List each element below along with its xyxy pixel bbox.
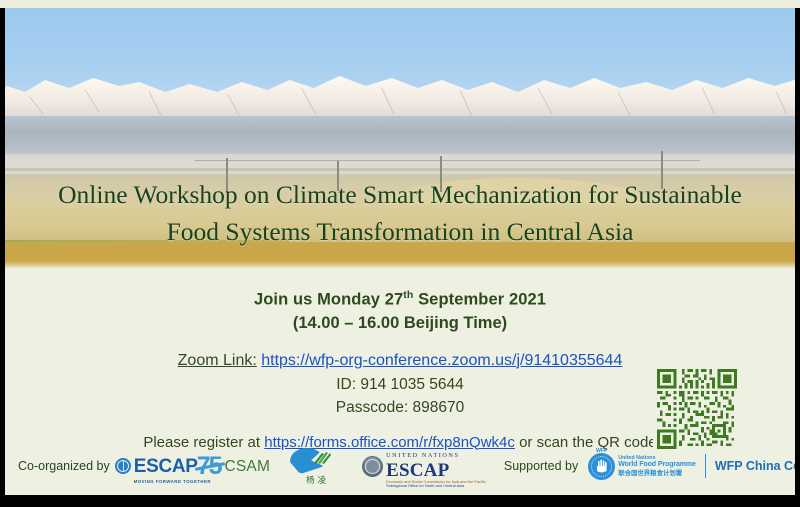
wfp-centre-of-excellence: WFP China Centre of Excellence [715, 459, 795, 473]
wfp-logo: WFP United Nations World Food Programme [588, 453, 795, 480]
wfp-wordmark: United Nations World Food Programme 联合国世… [618, 455, 696, 477]
wfp-seal-icon: WFP [588, 453, 615, 480]
escap-office-line: Subregional Office for North and Central… [386, 484, 486, 488]
title-line-1: Online Workshop on Climate Smart Mechani… [5, 176, 795, 213]
poster-page: Online Workshop on Climate Smart Mechani… [5, 8, 795, 495]
escap-subregional-text: UNITED NATIONS ESCAP Economic and Social… [386, 444, 486, 488]
event-date-suffix: September 2021 [413, 291, 546, 309]
event-date-prefix: Join us Monday 27 [254, 291, 403, 309]
wfp-line-programme: World Food Programme [618, 461, 696, 468]
un-seal-icon [362, 456, 383, 477]
top-cream-band [0, 0, 800, 8]
title-line-2: Food Systems Transformation in Central A… [5, 213, 795, 250]
footer-logos: Co-organized by ESCAP MOVING FORWARD TOG… [5, 437, 795, 495]
far-treeline [5, 168, 795, 171]
power-wire [195, 160, 701, 161]
wfp-hand-icon [588, 453, 615, 480]
zoom-link-label: Zoom Link: [178, 352, 257, 369]
wfp-line-chinese: 联合国世界粮食计划署 [618, 468, 696, 477]
un-emblem-icon [115, 458, 131, 474]
csam-wordmark: CSAM [225, 458, 271, 476]
escap-united-nations-label: UNITED NATIONS [386, 452, 459, 459]
event-date: Join us Monday 27th September 2021 [5, 289, 795, 310]
escap-subregional-logo: UNITED NATIONS ESCAP Economic and Social… [362, 444, 486, 488]
poster-title: Online Workshop on Climate Smart Mechani… [5, 176, 795, 250]
escap-csam-logo: ESCAP MOVING FORWARD TOGETHER 75 CSAM [134, 456, 270, 476]
supported-by-label: Supported by [504, 459, 578, 473]
yangling-characters: 杨凌 [306, 474, 329, 486]
escap-wordmark: ESCAP [134, 457, 198, 476]
escap-anniversary-75: 75 [197, 456, 221, 476]
event-date-ordinal: th [403, 289, 413, 301]
co-organized-label: Co-organized by [18, 459, 110, 473]
yangling-wheat-icon [312, 450, 332, 466]
yangling-logo-icon: 杨凌 [290, 447, 340, 485]
zoom-link-url[interactable]: https://wfp-org-conference.zoom.us/j/914… [261, 352, 622, 369]
poster-root: Online Workshop on Climate Smart Mechani… [0, 0, 800, 507]
wfp-divider [705, 454, 706, 478]
escap-subregional-acronym: ESCAP [386, 462, 486, 480]
event-time: (14.00 – 16.00 Beijing Time) [5, 314, 795, 333]
